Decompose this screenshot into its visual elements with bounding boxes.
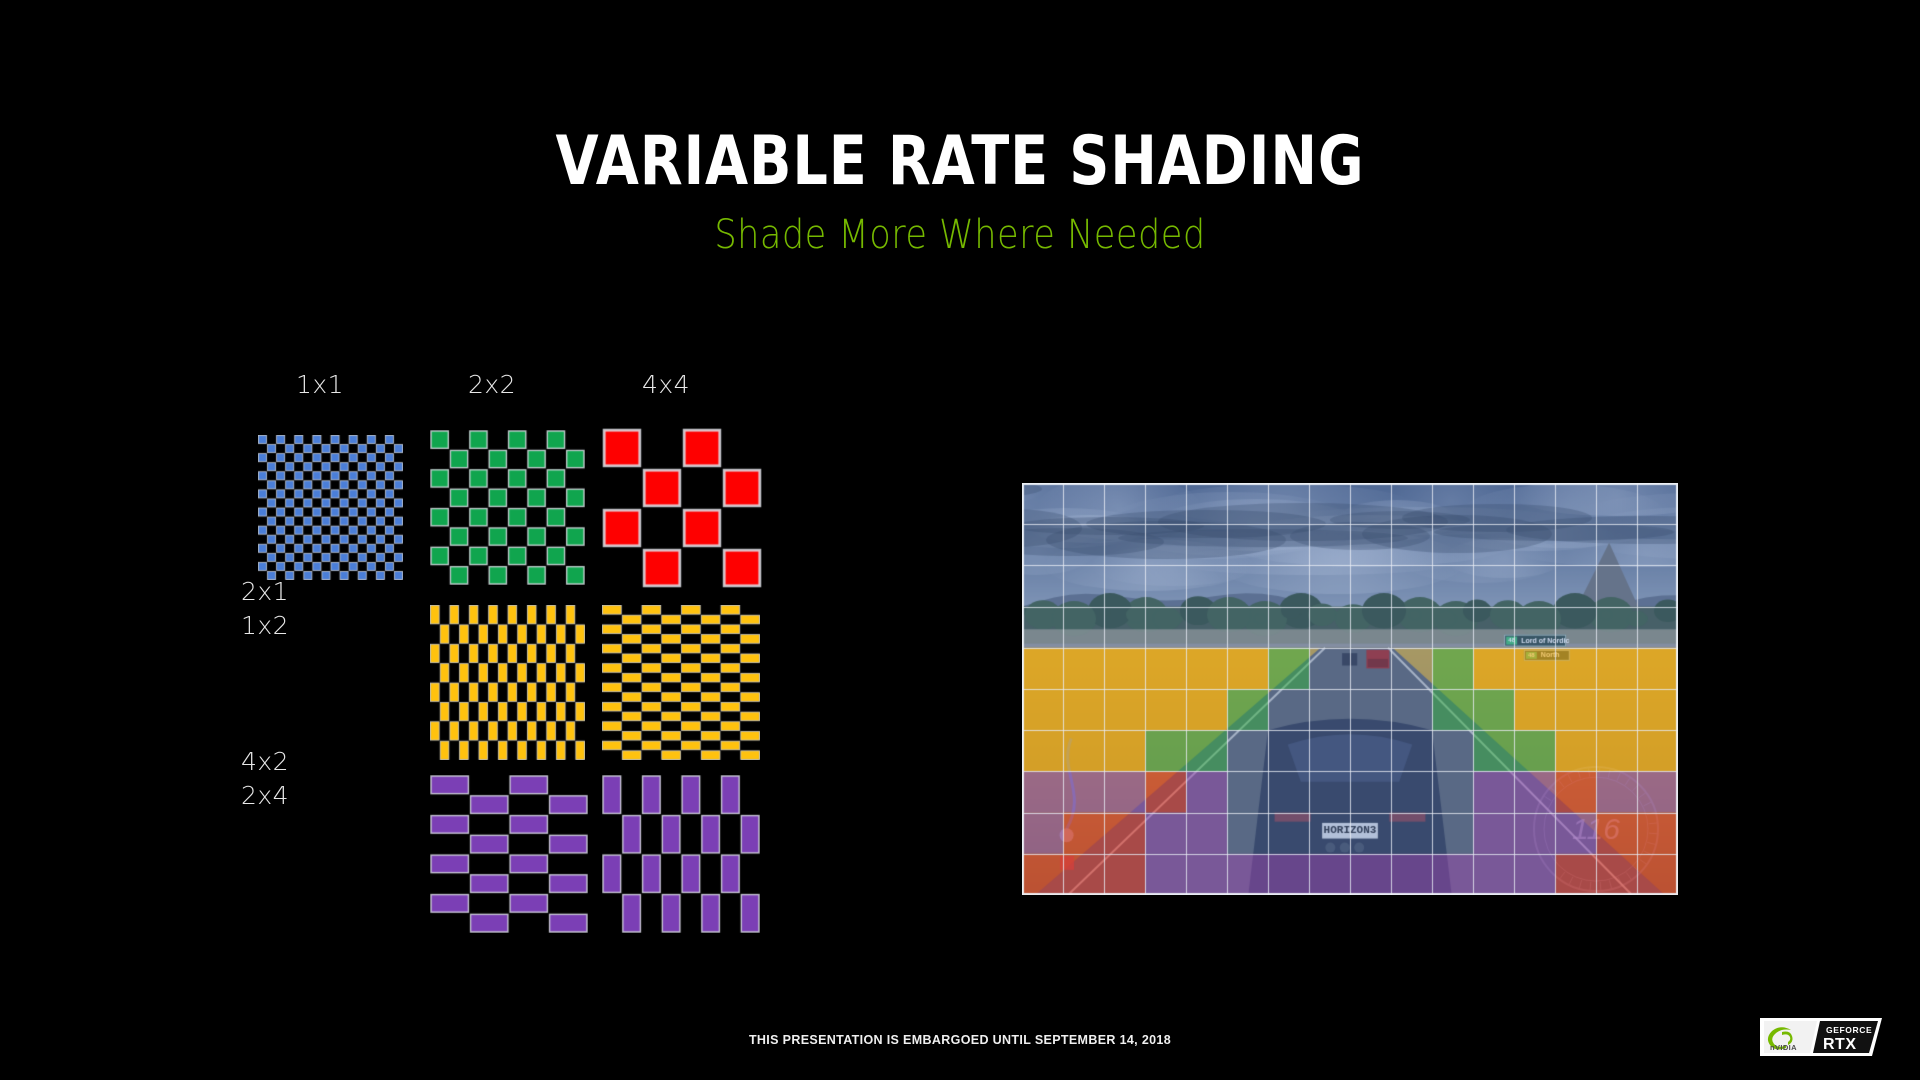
shading-rate-matrix: 1x1 2x2 4x4 2x1 1x2 4x2 2x4 (270, 370, 910, 970)
game-screenshot-overlay (1022, 483, 1678, 895)
title-block: VARIABLE RATE SHADING Shade More Where N… (0, 128, 1920, 258)
row-label-2x4: 2x4 (200, 779, 330, 813)
row-label-1x2: 1x2 (200, 609, 330, 643)
slide-root: VARIABLE RATE SHADING Shade More Where N… (0, 0, 1920, 1080)
row-label-4x2: 4x2 (200, 745, 330, 779)
geforce-label: GEFORCE (1826, 1025, 1872, 1035)
row-label-2x1: 2x1 (200, 575, 330, 609)
pattern-2x1 (602, 605, 760, 760)
rtx-label: RTX (1823, 1036, 1857, 1053)
row-label-2x1-1x2: 2x1 1x2 (200, 575, 330, 643)
pattern-2x4 (602, 775, 760, 933)
column-label-1x1: 1x1 (260, 370, 380, 399)
column-label-4x4: 4x4 (606, 370, 726, 399)
column-label-2x2: 2x2 (432, 370, 552, 399)
pattern-4x2 (430, 775, 588, 933)
pattern-1x2 (430, 605, 585, 760)
row-label-4x2-2x4: 4x2 2x4 (200, 745, 330, 813)
embargo-footer: THIS PRESENTATION IS EMBARGOED UNTIL SEP… (0, 1033, 1920, 1047)
page-title: VARIABLE RATE SHADING (173, 128, 1747, 196)
geforce-rtx-logo: nVIDIA GEFORCE RTX (1760, 1014, 1886, 1060)
rtx-badge-svg: nVIDIA GEFORCE RTX (1760, 1014, 1886, 1060)
pattern-2x2 (430, 430, 585, 585)
page-subtitle: Shade More Where Needed (115, 212, 1805, 258)
pattern-4x4 (602, 428, 762, 588)
pattern-1x1 (258, 435, 403, 580)
nvidia-wordmark: nVIDIA (1770, 1043, 1797, 1052)
